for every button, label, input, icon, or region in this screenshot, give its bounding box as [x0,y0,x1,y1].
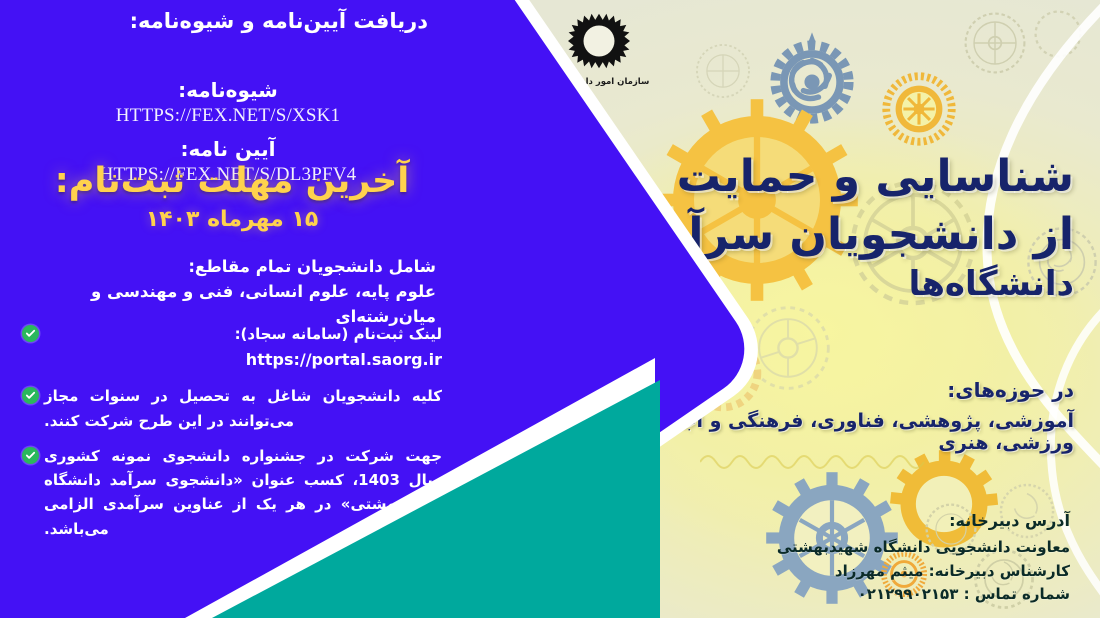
secretariat-line-1: معاونت دانشجویی دانشگاه شهیدبهشتی [720,536,1070,559]
deadline-block: آخرین مهلت ثبت‌نام: ۱۵ مهرماه ۱۴۰۳ [22,162,442,232]
gear-icon-yellow-small [880,70,958,148]
check-circle-icon [22,387,39,404]
registration-portal-url[interactable]: https://portal.saorg.ir [44,347,442,373]
secretariat-address-block: آدرس دبیرخانه: معاونت دانشجویی دانشگاه ش… [720,509,1070,606]
deadline-title: آخرین مهلت ثبت‌نام: [22,162,442,201]
main-title-line1: شناسایی و حمایت [677,151,1074,202]
list-item: لینک ثبت‌نام (سامانه سجاد): https://port… [22,322,442,373]
regulation-label: آیین نامه: [28,137,428,161]
guideline-label: شیوه‌نامه: [28,78,428,102]
secretariat-phone: شماره تماس : ۰۲۱۲۹۹۰۲۱۵۳ [720,583,1070,606]
gear-icon-outline-small-left [692,40,754,102]
secretariat-heading: آدرس دبیرخانه: [720,509,1070,534]
download-heading: دریافت آیین‌نامه و شیوه‌نامه: [28,8,428,34]
levels-line-1: شامل دانشجویان تمام مقاطع: [26,255,436,280]
poster-root: شناسایی و حمایت از دانشجویان سرآمد دانشگ… [0,0,1100,618]
levels-block: شامل دانشجویان تمام مقاطع: علوم پایه، عل… [26,255,436,329]
bullet-text-2: کلیه دانشجویان شاغل به تحصیل در سنوات مج… [44,384,442,433]
guideline-url[interactable]: HTTPS://FEX.NET/S/XSK1 [28,105,428,127]
list-item: کلیه دانشجویان شاغل به تحصیل در سنوات مج… [22,384,442,433]
bullet-main-1: لینک ثبت‌نام (سامانه سجاد): [235,325,442,343]
bullet-text-1: لینک ثبت‌نام (سامانه سجاد): https://port… [44,322,442,373]
secretariat-line-2: کارشناس دبیرخانه: میثم مهرزاد [720,560,1070,583]
check-circle-icon [22,447,39,464]
gear-icon-outline-top [960,8,1030,78]
gear-icon-outline-corner [1030,6,1086,62]
check-circle-icon [22,325,39,342]
deadline-date: ۱۵ مهرماه ۱۴۰۳ [22,207,442,232]
